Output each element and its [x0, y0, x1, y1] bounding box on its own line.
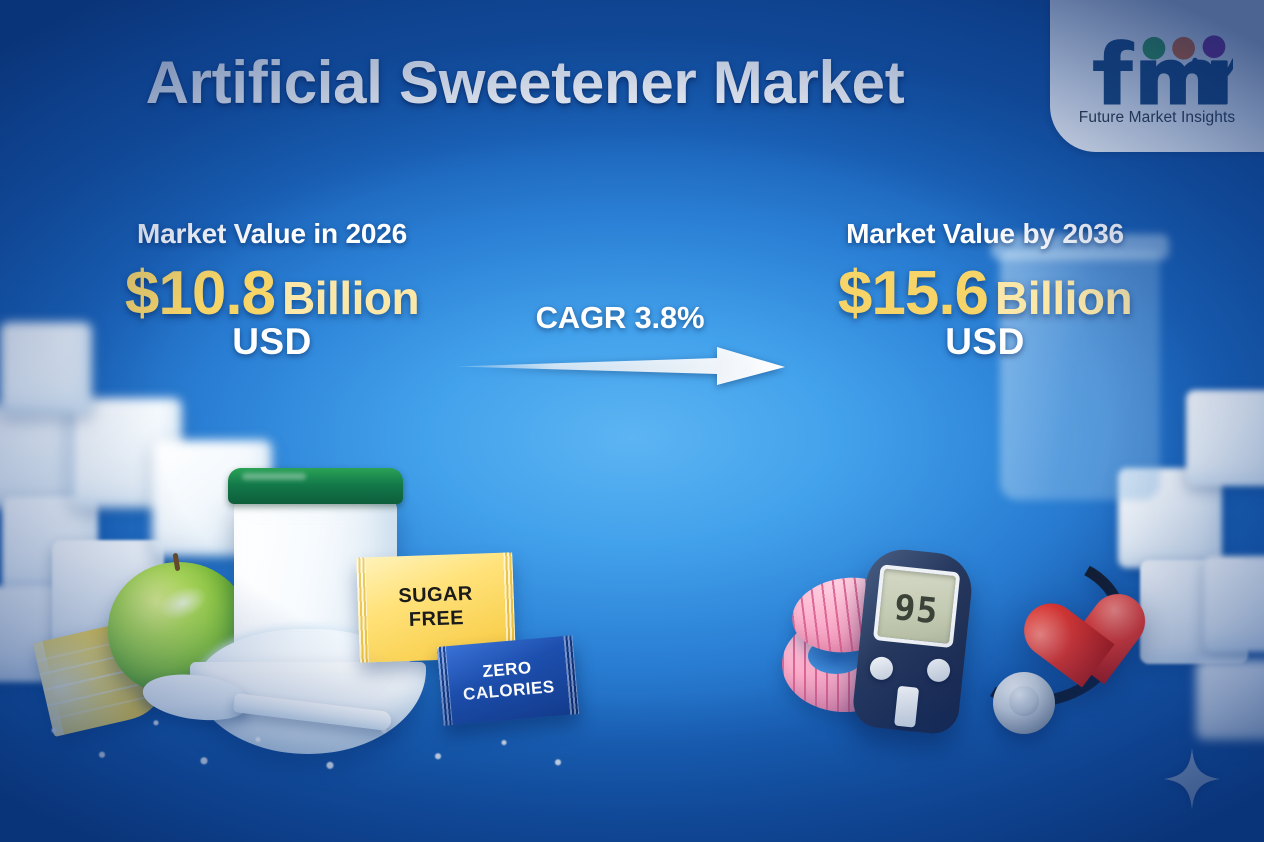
glucose-test-strip	[894, 686, 919, 728]
stat-value-2036: $15.6Billion USD	[785, 262, 1185, 361]
stat-block-2036: Market Value by 2036 $15.6Billion USD	[785, 218, 1185, 361]
zero-calories-packet: ZERO CALORIES	[437, 635, 579, 726]
stat-unit-2036: Billion	[995, 272, 1132, 324]
red-heart	[1000, 559, 1117, 673]
sugar-cube	[1196, 660, 1264, 740]
sugar-cube	[0, 404, 76, 508]
stethoscope-head-icon	[993, 672, 1055, 734]
growth-indicator: CAGR 3.8%	[455, 300, 785, 385]
sugar-cube	[1204, 556, 1264, 652]
fmi-logo-tagline: Future Market Insights	[1079, 109, 1235, 127]
glucose-reading: 95	[892, 587, 940, 631]
stat-unit-2026: Billion	[282, 272, 419, 324]
fmi-logo-card[interactable]: Future Market Insights	[1050, 0, 1264, 152]
stat-label-2036: Market Value by 2036	[785, 218, 1185, 250]
stat-block-2026: Market Value in 2026 $10.8Billion USD	[52, 218, 492, 361]
stat-currency-2036: USD	[785, 323, 1185, 361]
growth-arrow-icon	[455, 345, 785, 385]
stat-amount-2036: $15.6	[838, 259, 988, 328]
page-title: Artificial Sweetener Market	[0, 48, 1050, 117]
cagr-label: CAGR 3.8%	[455, 300, 785, 336]
stat-value-2026: $10.8Billion USD	[52, 262, 492, 361]
glucose-meter: 95	[851, 546, 975, 736]
sugar-free-line-2: FREE	[409, 607, 465, 632]
apple-highlight	[154, 580, 212, 627]
sugar-cube	[1186, 390, 1264, 486]
glucose-meter-screen: 95	[873, 564, 961, 648]
stat-amount-2026: $10.8	[125, 259, 275, 328]
glucose-meter-button	[869, 656, 894, 681]
infographic-canvas: SUGAR FREE ZERO CALORIES	[0, 0, 1264, 842]
fmi-wordmark-icon	[1081, 29, 1233, 107]
sparkle-icon	[1164, 748, 1220, 810]
stat-currency-2026: USD	[52, 323, 492, 361]
stat-label-2026: Market Value in 2026	[52, 218, 492, 250]
glucose-meter-button	[926, 658, 951, 683]
jar-green-lid	[228, 468, 403, 504]
spoon-handle	[233, 693, 392, 731]
zero-calories-line-2: CALORIES	[462, 676, 555, 704]
sugar-free-line-1: SUGAR	[398, 583, 473, 609]
